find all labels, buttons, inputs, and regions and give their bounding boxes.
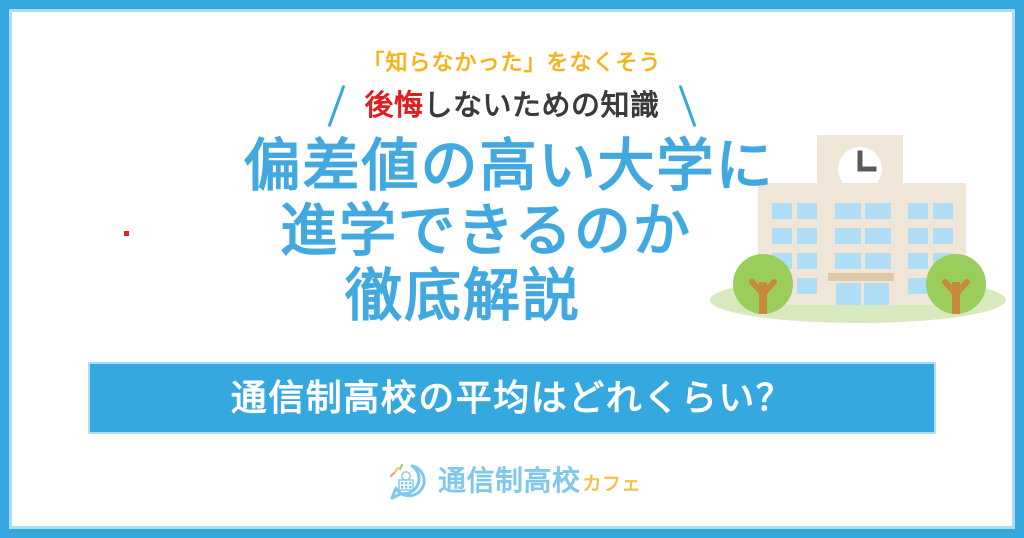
logo-wordmark: 通信制高校 カフェ [438, 467, 641, 495]
subhead-highlight: 後悔 [364, 90, 423, 122]
subtitle-banner-fill: 通信制高校の平均はどれくらい？ [90, 364, 934, 432]
mini-window [401, 482, 403, 484]
spark-green [400, 465, 402, 469]
title-line-2: 進学できるのか [0, 199, 1024, 264]
school-search-bubble-icon [383, 458, 429, 504]
subhead-text: 後悔しないための知識 [364, 92, 659, 121]
spark-yellow [395, 468, 398, 472]
subtitle-banner-text: 通信制高校の平均はどれくらい？ [231, 380, 794, 416]
stray-red-dot [124, 231, 129, 236]
mini-window [409, 482, 411, 484]
logo-sub-text: カフェ [583, 475, 642, 494]
title-line-1: 偏差値の高い大学に [0, 134, 1024, 199]
site-logo: 通信制高校 カフェ [0, 458, 1024, 504]
thumbnail-canvas: 「知らなかった」をなくそう 後悔しないための知識 偏差値の高い大学に 進学できる… [0, 0, 1024, 538]
mini-window [409, 486, 411, 488]
mini-window [405, 486, 407, 488]
subtitle-banner: 通信制高校の平均はどれくらい？ [88, 362, 936, 434]
mini-clock [402, 472, 410, 480]
logo-mark-svg [383, 458, 429, 504]
subhead-rest: しないための知識 [424, 90, 660, 122]
slash-right-icon [678, 85, 696, 127]
mini-window [405, 482, 407, 484]
spark-pink [391, 473, 394, 476]
kicker-text: 「知らなかった」をなくそう [0, 52, 1024, 74]
content-layer: 「知らなかった」をなくそう 後悔しないための知識 偏差値の高い大学に 進学できる… [0, 0, 1024, 538]
page-title: 偏差値の高い大学に 進学できるのか 徹底解説 [0, 134, 1024, 329]
subhead-row: 後悔しないための知識 [0, 84, 1024, 128]
mini-window [401, 486, 403, 488]
title-line-3: 徹底解説 [0, 264, 1024, 329]
mini-building [399, 480, 413, 490]
slash-left-icon [328, 85, 346, 127]
logo-main-text: 通信制高校 [438, 467, 581, 495]
